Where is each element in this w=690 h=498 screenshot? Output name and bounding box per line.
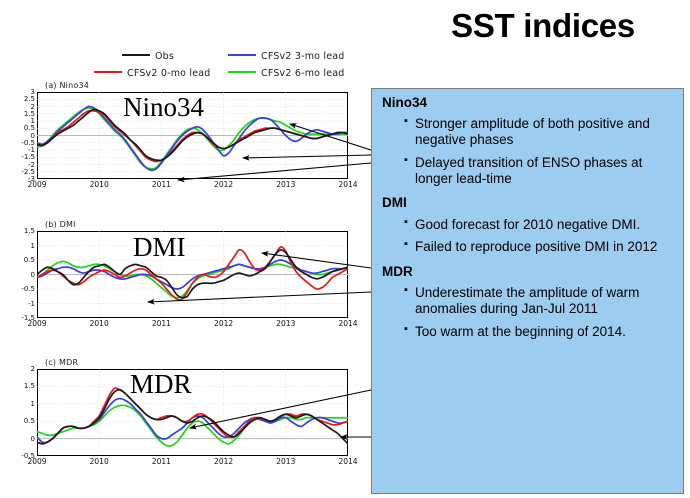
- x-tick-label: 2014: [338, 180, 357, 189]
- summary-bullet: Stronger amplitude of both positive and …: [404, 116, 673, 148]
- chart-panel-mdr: (c) MDR MDR 21.510.50-0.5 20092010201120…: [37, 369, 348, 456]
- slide-canvas: SST indices Obs CFSv2 3-mo lead CFSv2 0-…: [0, 0, 690, 498]
- chart-panel-dmi: (b) DMI DMI 1.510.50-0.5-1-1.5 200920102…: [37, 231, 348, 318]
- y-tick-label: 0: [31, 435, 35, 443]
- y-tick-label: 0: [31, 271, 35, 279]
- summary-heading-dmi: DMI: [382, 195, 673, 211]
- legend-label-lead0: CFSv2 0-mo lead: [127, 68, 211, 79]
- plot-lines-dmi: [37, 231, 348, 318]
- summary-bullet: Good forecast for 2010 negative DMI.: [404, 217, 673, 233]
- y-tick-label: 0.5: [24, 256, 35, 264]
- legend-item-lead6: CFSv2 6-mo lead: [228, 65, 345, 79]
- y-tick-label: -1: [28, 300, 35, 308]
- y-tick-label: 1.5: [24, 382, 35, 390]
- x-tick-label: 2009: [27, 457, 46, 466]
- legend-label-lead6: CFSv2 6-mo lead: [261, 68, 345, 79]
- summary-bullet: Too warm at the beginning of 2014.: [404, 324, 673, 340]
- y-tick-label: 1.5: [24, 227, 35, 235]
- y-tick-label: -0.5: [21, 285, 35, 293]
- x-tick-label: 2010: [90, 180, 109, 189]
- x-tick-label: 2014: [338, 319, 357, 328]
- chart-caption-dmi: (b) DMI: [45, 220, 76, 229]
- legend-item-obs: Obs: [122, 48, 174, 62]
- y-tick-label: 2: [31, 365, 35, 373]
- chart-panel-nino34: (a) Nino34 Nino34 32.521.510.50-0.5-1-1.…: [37, 92, 348, 179]
- summary-bullets-dmi: Good forecast for 2010 negative DMI. Fai…: [404, 217, 673, 256]
- x-tick-label: 2010: [90, 457, 109, 466]
- summary-bullets-mdr: Underestimate the amplitude of warm anom…: [404, 285, 673, 339]
- legend-swatch-lead0: [94, 71, 122, 73]
- legend-swatch-lead3: [228, 54, 256, 56]
- x-tick-label: 2011: [152, 319, 171, 328]
- x-tick-label: 2009: [27, 319, 46, 328]
- y-tick-label: 0.5: [24, 417, 35, 425]
- summary-heading-mdr: MDR: [382, 264, 673, 280]
- plot-lines-mdr: [37, 369, 348, 456]
- x-tick-label: 2012: [214, 180, 233, 189]
- legend-item-lead0: CFSv2 0-mo lead: [94, 65, 211, 79]
- x-tick-label: 2013: [276, 319, 295, 328]
- legend-swatch-lead6: [228, 71, 256, 73]
- x-tick-label: 2010: [90, 319, 109, 328]
- page-title: SST indices: [400, 4, 686, 48]
- x-tick-label: 2012: [214, 457, 233, 466]
- legend-swatch-obs: [122, 54, 150, 56]
- x-tick-label: 2009: [27, 180, 46, 189]
- x-tick-label: 2011: [152, 457, 171, 466]
- chart-overlay-label-nino34: Nino34: [123, 94, 204, 121]
- x-tick-label: 2011: [152, 180, 171, 189]
- y-tick-label: 1: [31, 242, 35, 250]
- legend-label-obs: Obs: [155, 51, 174, 62]
- summary-textbox: Nino34 Stronger amplitude of both positi…: [371, 88, 684, 494]
- x-tick-label: 2012: [214, 319, 233, 328]
- summary-bullet: Failed to reproduce positive DMI in 2012: [404, 239, 673, 255]
- summary-heading-nino34: Nino34: [382, 95, 673, 111]
- chart-overlay-label-mdr: MDR: [130, 371, 192, 398]
- chart-caption-mdr: (c) MDR: [45, 358, 78, 367]
- chart-legend: Obs CFSv2 3-mo lead CFSv2 0-mo lead CFSv…: [26, 48, 366, 80]
- chart-caption-nino34: (a) Nino34: [45, 81, 89, 90]
- summary-bullet: Underestimate the amplitude of warm anom…: [404, 285, 673, 317]
- summary-bullets-nino34: Stronger amplitude of both positive and …: [404, 116, 673, 186]
- summary-bullet: Delayed transition of ENSO phases at lon…: [404, 155, 673, 187]
- chart-overlay-label-dmi: DMI: [133, 234, 186, 261]
- x-tick-label: 2013: [276, 457, 295, 466]
- legend-label-lead3: CFSv2 3-mo lead: [261, 51, 345, 62]
- y-tick-label: 1: [31, 400, 35, 408]
- x-tick-label: 2013: [276, 180, 295, 189]
- legend-item-lead3: CFSv2 3-mo lead: [228, 48, 345, 62]
- x-tick-label: 2014: [338, 457, 357, 466]
